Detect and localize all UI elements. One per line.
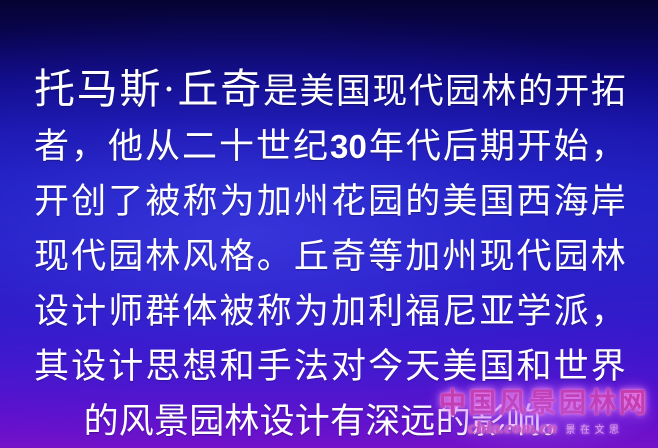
watermark-url: chla.com.cn xyxy=(468,419,557,437)
watermark-seal-icon: 景 在 文 思 xyxy=(565,425,620,437)
site-watermark: 中国风景园林网 chla.com.cn 景 在 文 思 xyxy=(438,388,650,442)
person-name: 托马斯·丘奇 xyxy=(34,66,263,112)
watermark-bottom-row: chla.com.cn 景 在 文 思 xyxy=(438,419,650,437)
watermark-site-name: 中国风景园林网 xyxy=(438,388,650,418)
slide-canvas: 托马斯·丘奇是美国现代园林的开拓者，他从二十世纪30年代后期开始，开创了被称为加… xyxy=(0,0,658,448)
decade-number: 30 xyxy=(330,128,367,165)
